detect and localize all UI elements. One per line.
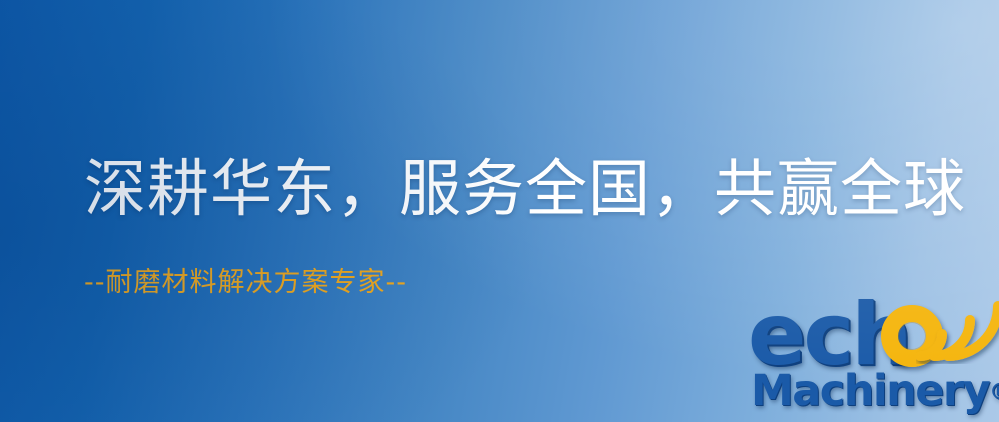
banner-headline: 深耕华东，服务全国，共赢全球 bbox=[84, 152, 966, 226]
registered-trademark-icon: ® bbox=[989, 380, 999, 405]
logo-tagline-text: Machinery bbox=[751, 366, 989, 416]
banner-subheadline: --耐磨材料解决方案专家-- bbox=[84, 266, 407, 300]
signal-waves-icon bbox=[916, 292, 999, 364]
logo-tagline: Machinery® bbox=[751, 366, 999, 418]
echo-machinery-logo: ech Machinery® bbox=[748, 296, 996, 420]
promo-banner: 深耕华东，服务全国，共赢全球 --耐磨材料解决方案专家-- ech Machin… bbox=[0, 0, 999, 422]
